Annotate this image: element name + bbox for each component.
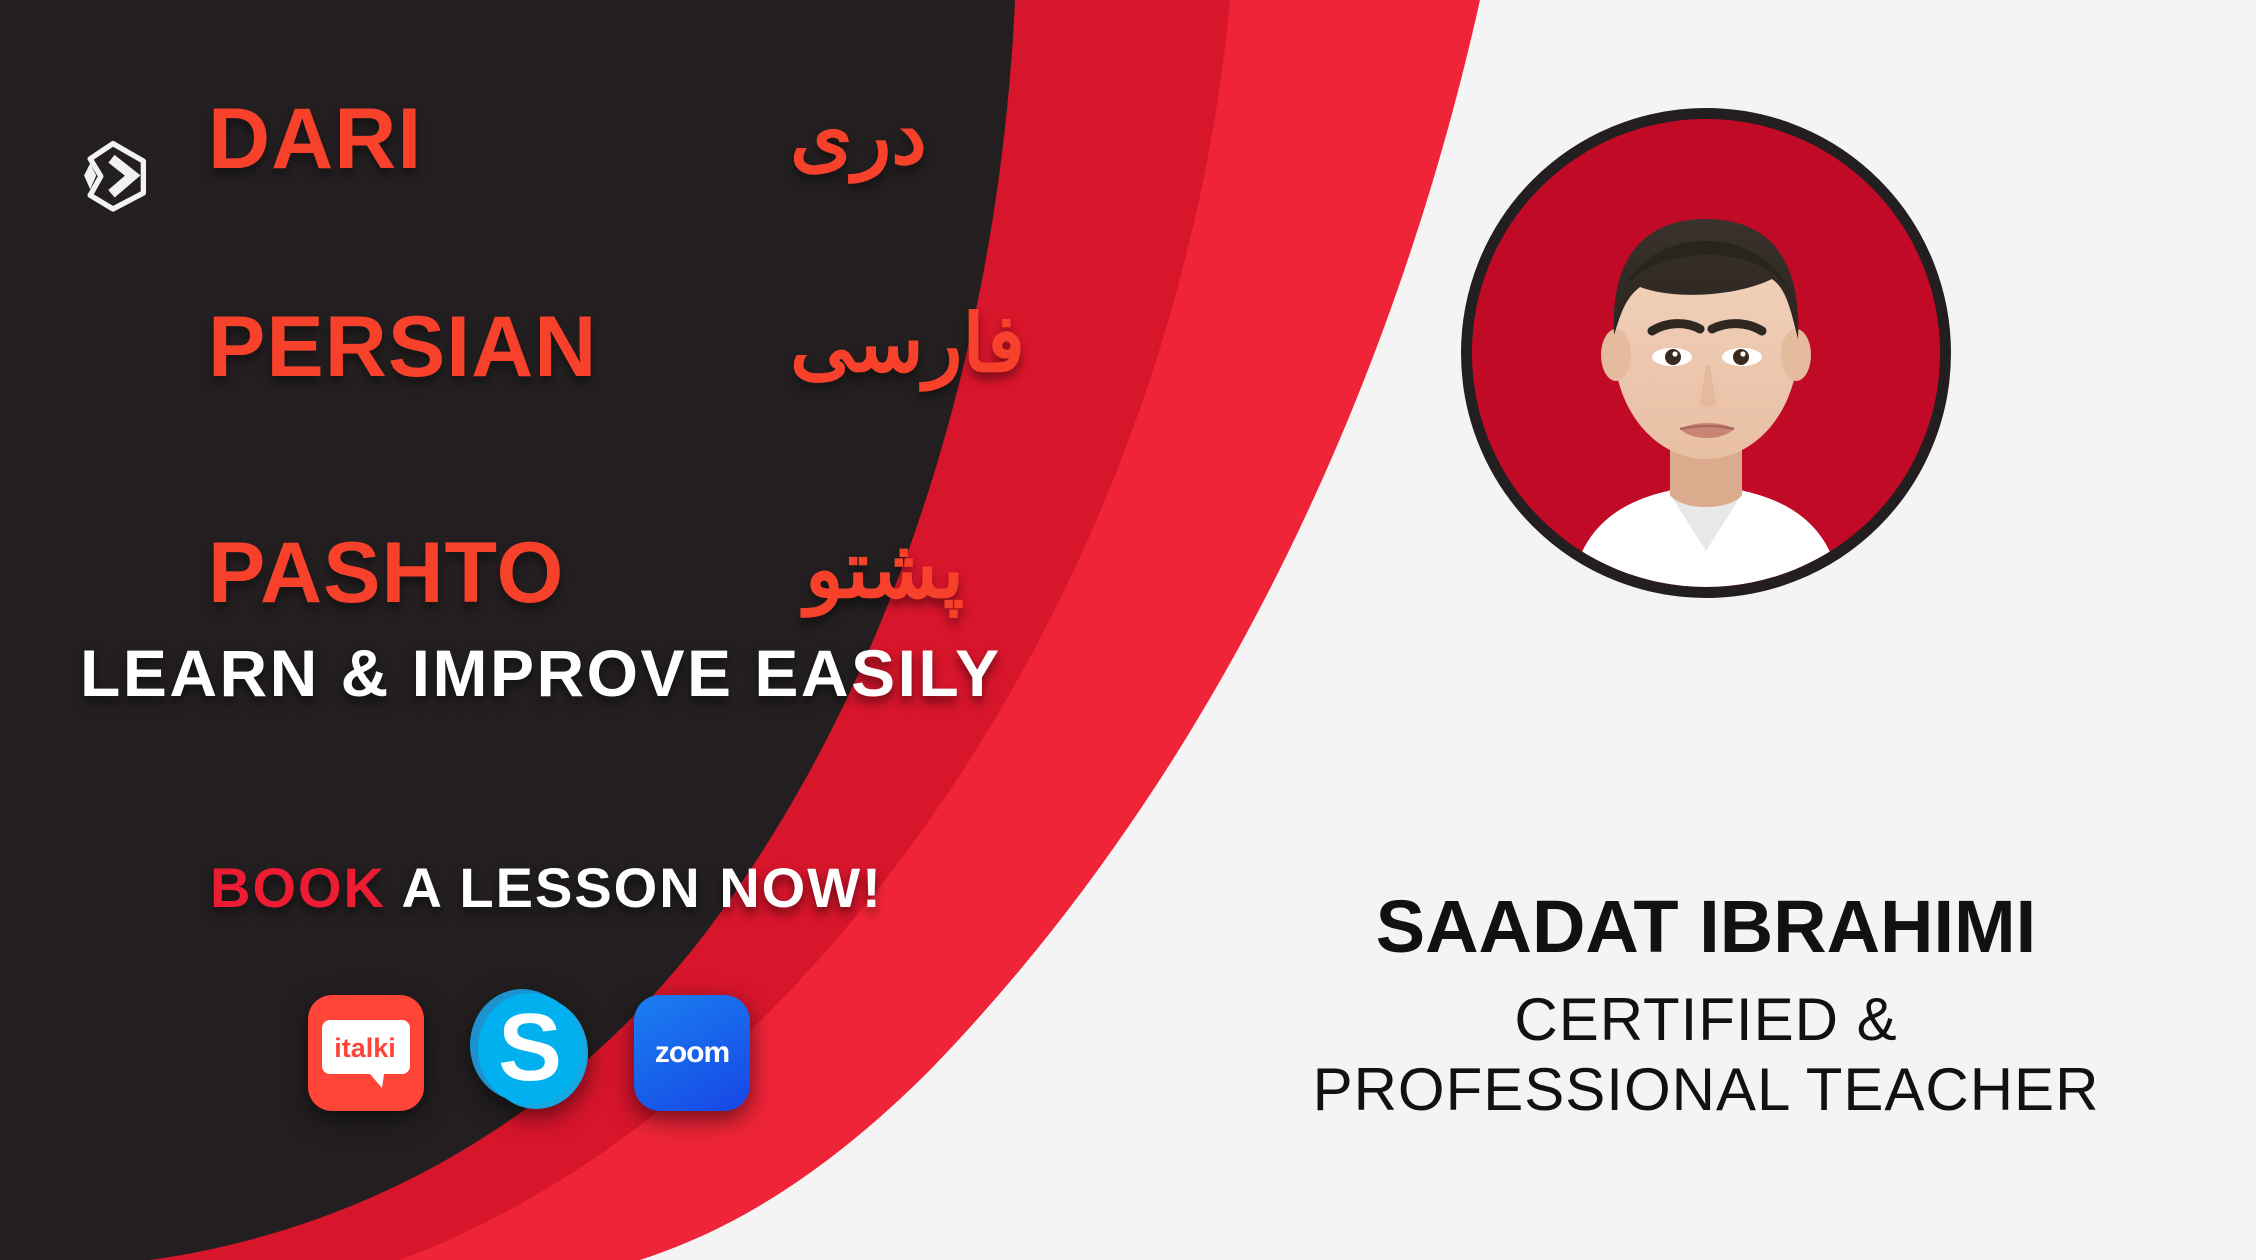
skype-platform-button[interactable]: S (464, 985, 594, 1120)
zoom-label: zoom (655, 1036, 729, 1070)
cta-rest-text: A LESSON NOW! (386, 856, 883, 919)
language-tutor-banner: DARI دری PERSIAN فارسی PASHTO پشتو LEARN… (0, 0, 2256, 1260)
svg-text:S: S (498, 994, 562, 1101)
language-row: PERSIAN فارسی (0, 304, 1040, 402)
skype-icon[interactable]: S (464, 985, 594, 1115)
tagline-text: LEARN & IMPROVE EASILY (80, 640, 1002, 706)
language-name-native-2: پشتو (805, 530, 964, 610)
language-row: PASHTO پشتو (0, 530, 1040, 628)
zoom-platform-button[interactable]: zoom (634, 995, 750, 1111)
portrait-ring (1461, 108, 1951, 598)
teacher-role-line-2: PROFESSIONAL TEACHER (1156, 1055, 2256, 1125)
language-name-en-2: PASHTO (208, 530, 564, 616)
zoom-icon[interactable]: zoom (634, 995, 750, 1111)
cta-highlight-word: BOOK (210, 856, 386, 919)
language-row: DARI دری (0, 96, 1040, 194)
language-name-en-0: DARI (208, 96, 422, 182)
platform-icon-row: italki S zoom (308, 985, 750, 1120)
language-name-native-0: دری (790, 96, 927, 176)
teacher-portrait (1461, 108, 1951, 598)
teacher-name: SAADAT IBRAHIMI (1156, 890, 2256, 964)
teacher-role: CERTIFIED & PROFESSIONAL TEACHER (1156, 985, 2256, 1124)
italki-speech-bubble-icon: italki (320, 1014, 412, 1092)
call-to-action-text: BOOK A LESSON NOW! (210, 860, 883, 916)
left-content-panel: DARI دری PERSIAN فارسی PASHTO پشتو LEARN… (0, 0, 1060, 1260)
teacher-role-line-1: CERTIFIED & (1156, 985, 2256, 1055)
language-headline-block: DARI دری PERSIAN فارسی PASHTO پشتو (0, 96, 1040, 390)
portrait-photo-illustration (1472, 119, 1940, 587)
italki-platform-button[interactable]: italki (308, 995, 424, 1111)
svg-text:italki: italki (334, 1033, 396, 1063)
italki-icon[interactable]: italki (308, 995, 424, 1111)
language-name-en-1: PERSIAN (208, 304, 597, 390)
right-content-panel: SAADAT IBRAHIMI CERTIFIED & PROFESSIONAL… (1156, 0, 2256, 1260)
language-name-native-1: فارسی (790, 304, 1025, 384)
